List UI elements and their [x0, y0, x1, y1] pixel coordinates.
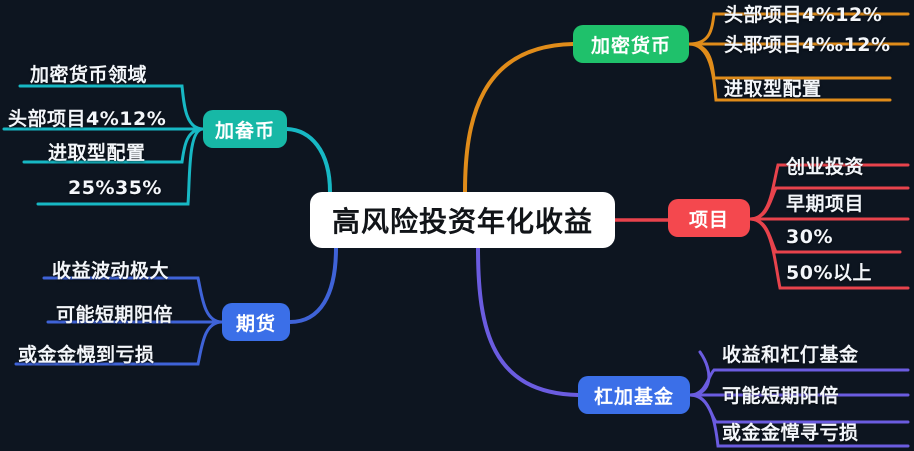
leaf-futures-2[interactable]: 可能短期阳倍 — [56, 300, 173, 327]
leaf-crypto-right-3[interactable]: 进取型配置 — [724, 74, 822, 101]
branch-node-crypto-currency[interactable]: 加密货币 — [573, 25, 689, 63]
branch-node-crypto-coin[interactable]: 加畚币 — [203, 110, 287, 148]
leaf-crypto-right-1[interactable]: 头部项目4%12% — [724, 0, 882, 27]
branch-node-label: 杠加基金 — [594, 382, 674, 409]
branch-node-label: 加密货币 — [591, 31, 671, 58]
leaf-project-3[interactable]: 30% — [786, 226, 833, 248]
branch-node-futures[interactable]: 期货 — [222, 303, 290, 341]
connector-leverage-child-1 — [690, 352, 709, 395]
mindmap-canvas: 高风险投资年化收益 加密货币 项目 杠加基金 加畚币 期货 头部项目4%12% … — [0, 0, 914, 451]
branch-node-project[interactable]: 项目 — [668, 199, 750, 237]
leaf-crypto-left-2[interactable]: 头部项目4%12% — [8, 104, 166, 131]
leaf-leverage-1[interactable]: 收益和杠仃基金 — [722, 340, 859, 367]
leaf-leverage-3[interactable]: 或金金愺寻亏损 — [722, 418, 859, 445]
leaf-project-2[interactable]: 早期项目 — [786, 189, 864, 216]
branch-node-leverage-fund[interactable]: 杠加基金 — [578, 376, 690, 414]
leaf-project-1[interactable]: 创业投资 — [786, 152, 864, 179]
leaf-futures-1[interactable]: 收益波动极大 — [52, 256, 169, 283]
connector-root-to-leverage — [478, 248, 578, 395]
leaf-leverage-2[interactable]: 可能短期阳倍 — [722, 381, 839, 408]
branch-node-label: 项目 — [689, 205, 729, 232]
connector-root-to-crypto-left — [287, 129, 330, 192]
leaf-project-4[interactable]: 50%以上 — [786, 258, 872, 285]
branch-node-label: 期货 — [236, 309, 276, 336]
branch-node-label: 加畚币 — [215, 116, 275, 143]
root-node-label: 高风险投资年化收益 — [332, 200, 593, 240]
leaf-futures-3[interactable]: 或金金愰到亏损 — [18, 340, 155, 367]
connector-root-to-futures — [290, 248, 336, 322]
connector-root-to-crypto-right — [465, 44, 573, 192]
leaf-crypto-left-3[interactable]: 进取型配置 — [48, 138, 146, 165]
leaf-crypto-left-4[interactable]: 25%35% — [68, 177, 162, 199]
root-node[interactable]: 高风险投资年化收益 — [310, 192, 615, 248]
leaf-crypto-left-1[interactable]: 加密货币领域 — [30, 60, 147, 87]
leaf-crypto-right-2[interactable]: 头耶项目4‰12% — [724, 30, 891, 57]
